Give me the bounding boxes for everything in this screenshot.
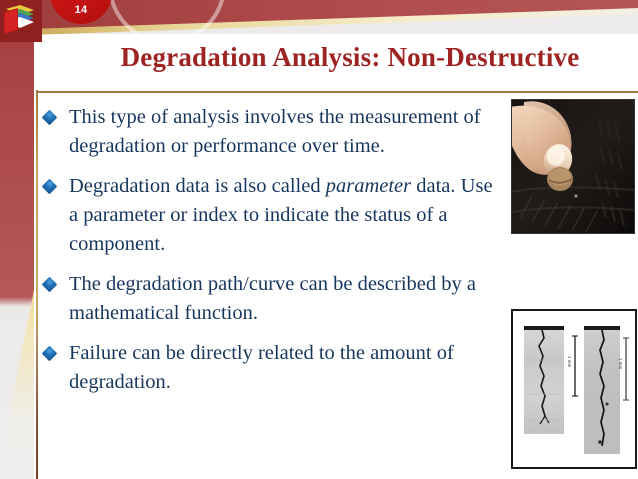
page-number: 14 (50, 0, 112, 20)
bullet-item: Degradation data is also called paramete… (42, 172, 497, 259)
header-arc-decoration (108, 0, 226, 44)
bullet-text: The degradation path/curve can be descri… (69, 270, 497, 328)
crack-growth-micrographs: 1 mm 1 mm (511, 309, 637, 469)
diamond-bullet-icon (42, 179, 58, 195)
scale-label-right: 1 mm (618, 358, 623, 369)
left-vertical-rule (36, 90, 38, 479)
diamond-bullet-icon (42, 346, 58, 362)
bullet-text: Degradation data is also called paramete… (69, 172, 497, 259)
bullet-text: Failure can be directly related to the a… (69, 339, 497, 397)
diamond-bullet-icon (42, 277, 58, 293)
page-title: Degradation Analysis: Non-Destructive (70, 40, 630, 74)
diamond-bullet-icon (42, 110, 58, 126)
title-underline-rule (36, 91, 638, 93)
text-run: This type of analysis involves the measu… (69, 106, 481, 157)
text-run: Degradation data is also called (69, 175, 326, 197)
bullet-item: The degradation path/curve can be descri… (42, 270, 497, 328)
slide: 14 Degradation Analysis: Non-Destructive… (0, 0, 638, 479)
scale-label-left: 1 mm (567, 356, 572, 367)
bullet-item: This type of analysis involves the measu… (42, 103, 497, 161)
bullet-item: Failure can be directly related to the a… (42, 339, 497, 397)
bullet-list: This type of analysis involves the measu… (42, 103, 497, 408)
text-run: Failure can be directly related to the a… (69, 342, 454, 393)
text-run: The degradation path/curve can be descri… (69, 273, 476, 324)
bullet-text: This type of analysis involves the measu… (69, 103, 497, 161)
emphasised-term: parameter (326, 175, 411, 197)
tire-tread-wear-photo (511, 99, 635, 234)
institution-book-logo (0, 0, 42, 42)
